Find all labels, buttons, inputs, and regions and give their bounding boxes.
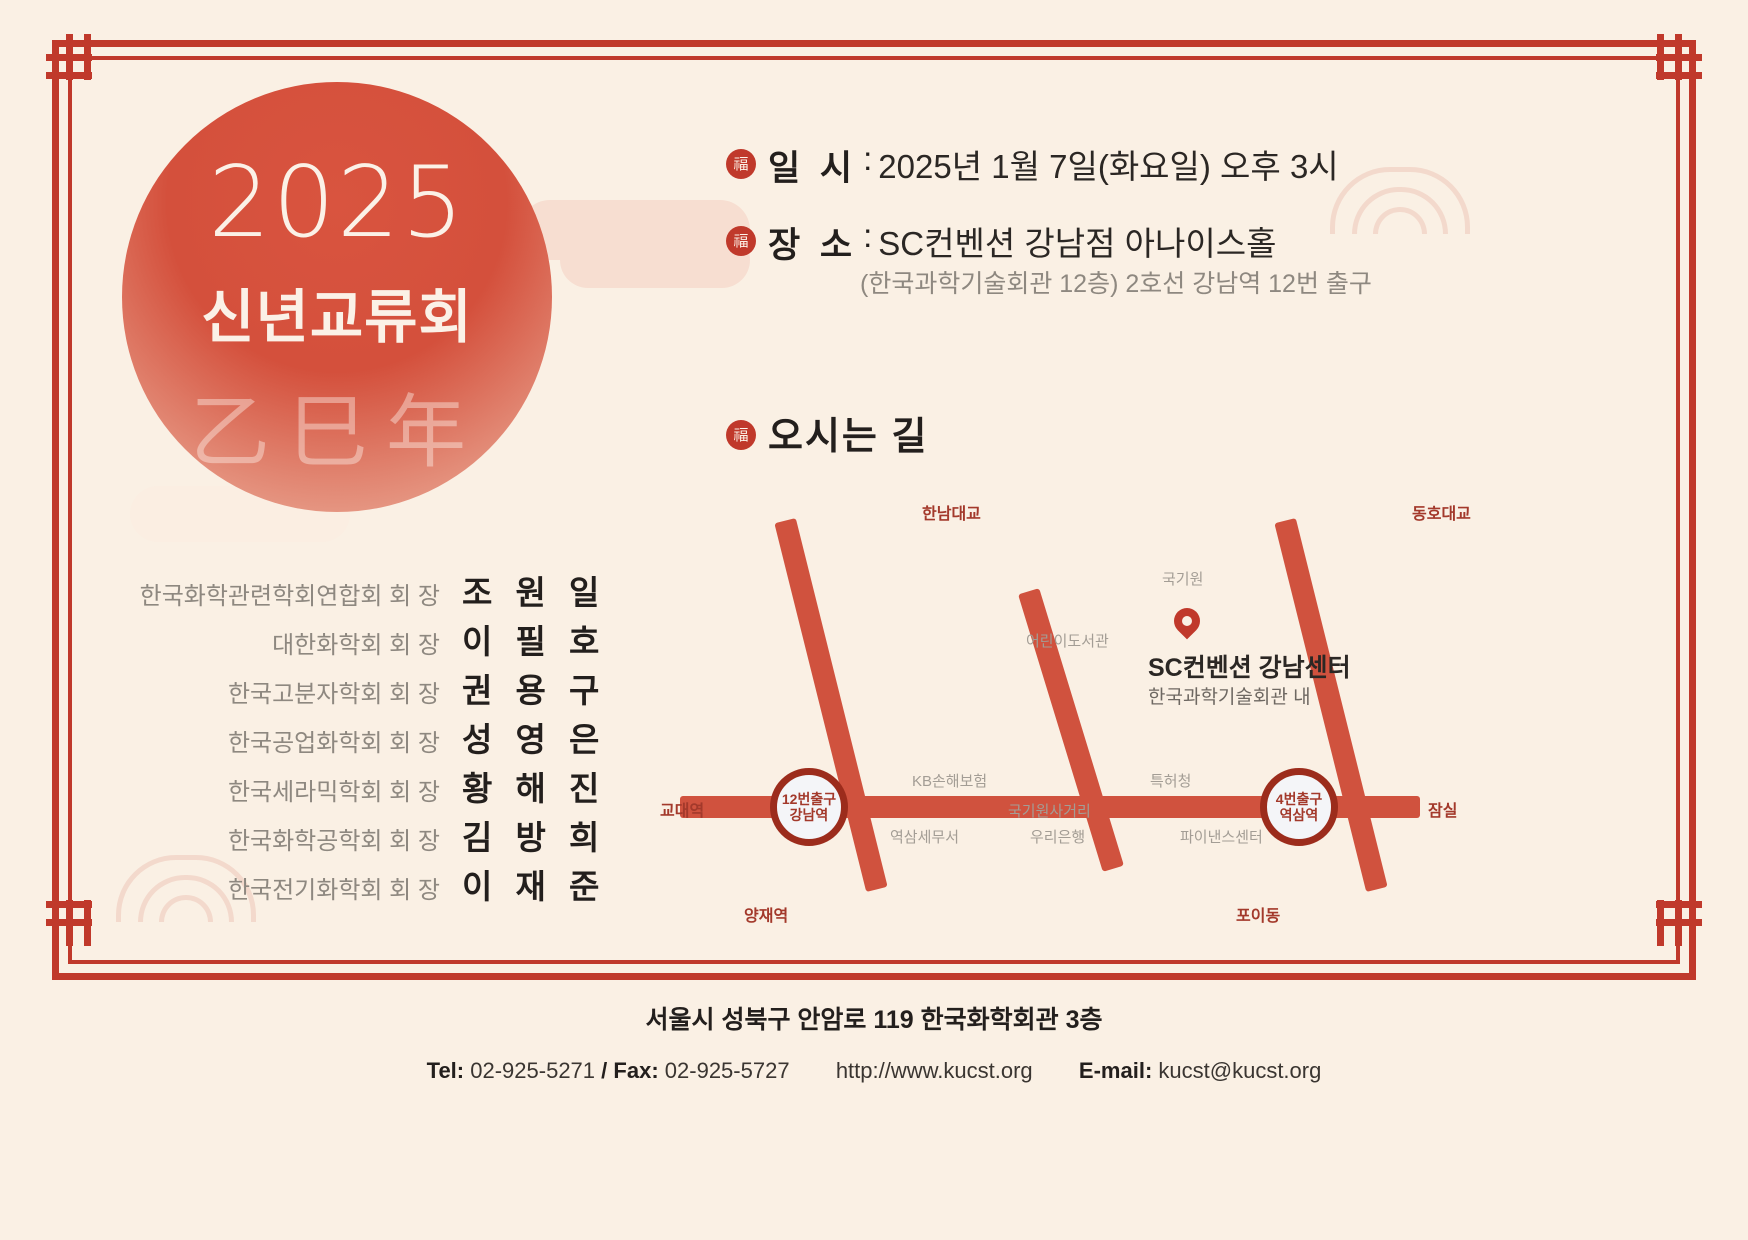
map-landmark-yeoksam-tax-office: 역삼세무서 <box>890 826 959 847</box>
officer-name: 김 방 희 <box>462 811 580 859</box>
event-details-block: 福 일 시 : 2025년 1월 7일(화요일) 오후 3시 福 장 소 : S… <box>726 140 1372 300</box>
fax-value: 02-925-5727 <box>665 1058 790 1083</box>
poster-root: 2025 신년교류회 乙巳年 福 일 시 : 2025년 1월 7일(화요일) … <box>0 0 1748 1240</box>
officer-name: 성 영 은 <box>462 713 580 761</box>
station-name-label: 역삼역 <box>1280 807 1319 823</box>
map-landmark-finance-center: 파이낸스센터 <box>1180 826 1263 847</box>
detail-value-place: SC컨벤션 강남점 아나이스홀 <box>878 217 1276 265</box>
website-url[interactable]: http://www.kucst.org <box>836 1058 1033 1083</box>
zodiac-year-text: 乙巳年 <box>122 368 552 484</box>
detail-separator-date: : <box>863 140 872 178</box>
map-landmark-kb-insurance: KB손해보험 <box>912 770 987 791</box>
tel-label: Tel: <box>427 1058 464 1083</box>
officer-org: 대한화학회 회 장 <box>272 625 440 660</box>
cloud-decoration-right-2 <box>560 232 750 288</box>
officer-org: 한국화학관련학회연합회 회 장 <box>140 576 440 611</box>
fax-label: Fax: <box>613 1058 658 1083</box>
station-node-yeoksam: 4번출구 역삼역 <box>1260 768 1338 846</box>
year-text: 2025 <box>122 154 552 252</box>
officer-org: 한국화학공학회 회 장 <box>228 821 440 856</box>
detail-date-group: 福 일 시 : 2025년 1월 7일(화요일) 오후 3시 <box>726 140 1372 191</box>
officer-org: 한국세라믹학회 회 장 <box>228 772 440 807</box>
venue-name: SC컨벤션 강남센터 <box>1148 648 1351 684</box>
corner-ornament-bottom-left <box>46 868 124 946</box>
detail-separator-place: : <box>863 217 872 255</box>
map-landmark-gukgiwon-intersection: 국기원사거리 <box>1008 800 1091 821</box>
officer-row: 한국고분자학회 회 장 권 용 구 <box>120 664 580 713</box>
officer-name: 이 필 호 <box>462 615 580 663</box>
directions-heading-group: 福 오시는 길 <box>726 405 928 460</box>
subway-map: 한남대교 동호대교 교대역 잠실 양재역 포이동 국기원 어린이도서관 KB손해… <box>640 480 1640 940</box>
tel-value: 02-925-5271 <box>470 1058 595 1083</box>
map-endpoint-gyodae: 교대역 <box>660 797 704 821</box>
fu-icon-2: 福 <box>726 226 756 256</box>
footer-address: 서울시 성북구 안암로 119 한국화학회관 3층 <box>0 1000 1748 1036</box>
station-exit-label: 12번출구 <box>782 791 836 807</box>
officer-row: 한국화학관련학회연합회 회 장 조 원 일 <box>120 566 580 615</box>
corner-ornament-top-left <box>46 34 124 112</box>
officer-row: 한국세라믹학회 회 장 황 해 진 <box>120 762 580 811</box>
detail-row-place: 福 장 소 : SC컨벤션 강남점 아나이스홀 <box>726 217 1372 268</box>
station-exit-label: 4번출구 <box>1276 791 1322 807</box>
email-value[interactable]: kucst@kucst.org <box>1158 1058 1321 1083</box>
map-landmark-patent-office: 특허청 <box>1150 770 1191 791</box>
detail-label-place: 장 소 <box>768 217 857 268</box>
officer-row: 한국화학공학회 회 장 김 방 희 <box>120 811 580 860</box>
event-title: 신년교류회 <box>122 270 552 354</box>
footer: 서울시 성북구 안암로 119 한국화학회관 3층 Tel: 02-925-52… <box>0 1000 1748 1084</box>
officer-org: 한국고분자학회 회 장 <box>228 674 440 709</box>
map-endpoint-yangjae: 양재역 <box>744 902 788 926</box>
location-pin-icon <box>1169 603 1206 640</box>
officer-row: 한국공업화학회 회 장 성 영 은 <box>120 713 580 762</box>
detail-value-date: 2025년 1월 7일(화요일) 오후 3시 <box>878 140 1338 188</box>
officer-row: 대한화학회 회 장 이 필 호 <box>120 615 580 664</box>
officers-list: 한국화학관련학회연합회 회 장 조 원 일 대한화학회 회 장 이 필 호 한국… <box>120 566 580 909</box>
officer-row: 한국전기화학회 회 장 이 재 준 <box>120 860 580 909</box>
detail-row-date: 福 일 시 : 2025년 1월 7일(화요일) 오후 3시 <box>726 140 1372 191</box>
map-endpoint-poidong: 포이동 <box>1236 902 1280 926</box>
officer-org: 한국공업화학회 회 장 <box>228 723 440 758</box>
corner-ornament-top-right <box>1624 34 1702 112</box>
fu-icon: 福 <box>726 149 756 179</box>
detail-place-group: 福 장 소 : SC컨벤션 강남점 아나이스홀 (한국과학기술회관 12층) 2… <box>726 217 1372 300</box>
officer-name: 조 원 일 <box>462 566 580 614</box>
map-endpoint-jamsil: 잠실 <box>1428 797 1457 821</box>
directions-heading: 오시는 길 <box>768 405 928 460</box>
venue-sub-name: 한국과학기술회관 내 <box>1148 682 1311 709</box>
email-label: E-mail: <box>1079 1058 1152 1083</box>
footer-contact-line: Tel: 02-925-5271 / Fax: 02-925-5727 http… <box>0 1058 1748 1084</box>
fu-icon-3: 福 <box>726 420 756 450</box>
officer-org: 한국전기화학회 회 장 <box>228 870 440 905</box>
detail-sub-place: (한국과학기술회관 12층) 2호선 강남역 12번 출구 <box>860 264 1372 300</box>
station-node-gangnam: 12번출구 강남역 <box>770 768 848 846</box>
map-landmark-childrens-library: 어린이도서관 <box>1026 630 1109 651</box>
detail-label-date: 일 시 <box>768 140 857 191</box>
officer-name: 황 해 진 <box>462 762 580 810</box>
officer-name: 이 재 준 <box>462 860 580 908</box>
station-name-label: 강남역 <box>790 807 829 823</box>
title-circle: 2025 신년교류회 乙巳年 <box>122 82 552 512</box>
map-endpoint-dongho: 동호대교 <box>1412 500 1471 524</box>
officer-name: 권 용 구 <box>462 664 580 712</box>
contact-slash: / <box>601 1058 607 1083</box>
map-landmark-woori-bank: 우리은행 <box>1030 826 1085 847</box>
map-endpoint-gukgiwon: 국기원 <box>1162 568 1203 589</box>
map-endpoint-hannam: 한남대교 <box>922 500 981 524</box>
